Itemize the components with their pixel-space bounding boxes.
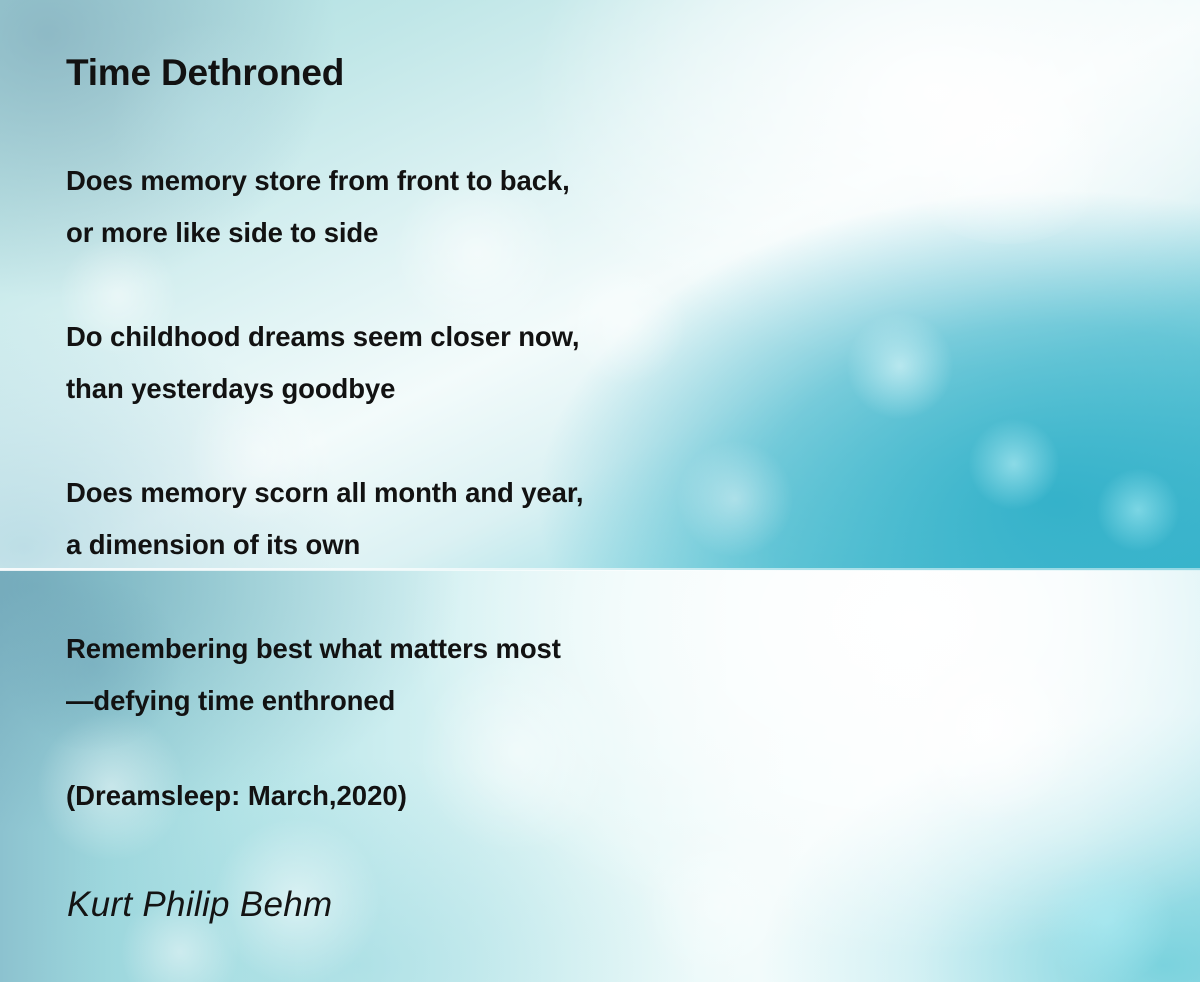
poem-title: Time Dethroned: [66, 52, 344, 94]
poem-stanza: Do childhood dreams seem closer now, tha…: [66, 311, 579, 415]
poem-stanza: Remembering best what matters most —defy…: [66, 623, 561, 727]
poem-line: Does memory scorn all month and year,: [66, 467, 583, 519]
poem-stanza: Does memory scorn all month and year, a …: [66, 467, 583, 571]
poem-line: a dimension of its own: [66, 519, 583, 571]
poem-line: than yesterdays goodbye: [66, 363, 579, 415]
poem-line: or more like side to side: [66, 207, 570, 259]
poem-image-card: Time Dethroned Does memory store from fr…: [0, 0, 1200, 982]
poem-line: Do childhood dreams seem closer now,: [66, 311, 579, 363]
poem-line: Remembering best what matters most: [66, 623, 561, 675]
poem-stanza: Does memory store from front to back, or…: [66, 155, 570, 259]
poem-line: —defying time enthroned: [66, 675, 561, 727]
poem-line: Does memory store from front to back,: [66, 155, 570, 207]
poem-source-note: (Dreamsleep: March,2020): [66, 779, 407, 813]
poem-author-name: Kurt Philip Behm: [67, 882, 332, 928]
poem-text-block: Time Dethroned Does memory store from fr…: [0, 0, 1200, 982]
